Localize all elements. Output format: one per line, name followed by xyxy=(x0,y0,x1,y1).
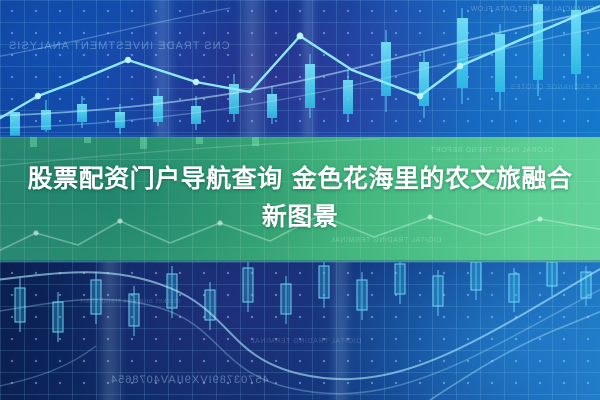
bottom-candlesticks xyxy=(15,262,591,342)
top-trend-curve-3 xyxy=(0,8,230,58)
top-zigzag-line xyxy=(0,6,600,124)
top-chart-band: CNS TRADE INVESTMENT ANALYSIS FINANCIAL … xyxy=(0,0,600,137)
title-line-1: 股票配资门户导航查询 金色花海里的农文旅融合 xyxy=(14,160,586,198)
bottom-chart-band: market analysis trend chart 45703789IVX9… xyxy=(0,262,600,400)
bottom-arc-curve xyxy=(430,292,600,400)
stock-banner-image: CNS TRADE INVESTMENT ANALYSIS FINANCIAL … xyxy=(0,0,600,400)
top-chart-graphics xyxy=(0,0,600,137)
title-line-2: 新图景 xyxy=(14,198,586,236)
bottom-left-curve xyxy=(0,346,96,388)
banner-title: 股票配资门户导航查询 金色花海里的农文旅融合 新图景 xyxy=(0,160,600,236)
bottom-chart-graphics xyxy=(0,262,600,400)
top-trend-curve xyxy=(0,6,600,116)
top-candlesticks xyxy=(10,0,581,136)
